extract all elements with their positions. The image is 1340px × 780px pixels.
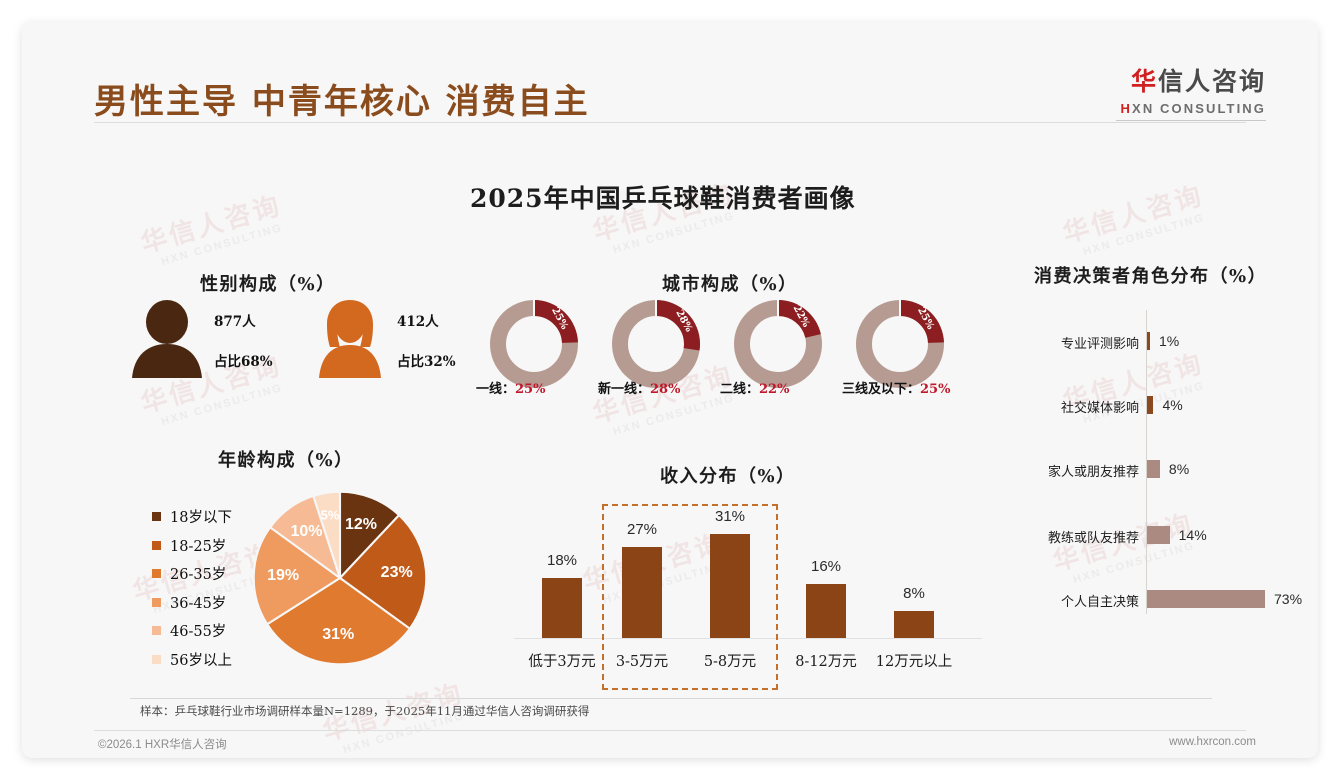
role-bar-value-1: 1% <box>1159 333 1179 349</box>
city-donut-label-1: 一线：25% <box>476 378 545 397</box>
legend-swatch-icon <box>152 598 161 607</box>
role-label-2: 社交媒体影响 <box>1007 397 1139 416</box>
city-donut-1: 25% <box>488 298 580 390</box>
age-pie-value-1: 12% <box>345 516 377 534</box>
city-label-value: 25% <box>920 382 950 397</box>
age-legend-item-4: 36-45岁 <box>152 592 226 613</box>
city-section-title: 城市构成（%） <box>662 270 798 296</box>
city-donut-label-4: 三线及以下：25% <box>842 378 950 397</box>
legend-swatch-icon <box>152 541 161 550</box>
age-section-title: 年龄构成（%） <box>218 446 354 472</box>
age-legend-item-3: 26-35岁 <box>152 563 226 584</box>
income-bar-5 <box>894 611 934 638</box>
website-text: www.hxrcon.com <box>1169 736 1256 748</box>
age-legend-label: 36-45岁 <box>170 592 226 613</box>
male-count: 877人 <box>214 310 256 330</box>
income-bar-value-3: 31% <box>690 508 770 525</box>
age-legend-item-2: 18-25岁 <box>152 535 226 556</box>
female-silhouette-icon <box>310 300 390 378</box>
legend-swatch-icon <box>152 569 161 578</box>
male-share: 占比68% <box>214 350 273 370</box>
city-label-text: 一线： <box>476 382 515 397</box>
role-bar-5 <box>1147 590 1265 608</box>
role-label-3: 家人或朋友推荐 <box>1007 461 1139 480</box>
city-donut-label-2: 新一线：28% <box>598 378 680 397</box>
brand-logo-en-red: H <box>1121 101 1133 116</box>
city-donut-3: 22% <box>732 298 824 390</box>
age-legend-label: 56岁以上 <box>170 649 232 670</box>
note-divider <box>130 698 1212 699</box>
income-bar-2 <box>622 547 662 638</box>
role-bar-1 <box>1147 332 1150 350</box>
role-label-4: 教练或队友推荐 <box>1007 527 1139 546</box>
gender-section-title: 性别构成（%） <box>200 270 336 296</box>
brand-logo-cn-rest: 信人咨询 <box>1158 67 1266 96</box>
brand-logo-en: HXN CONSULTING <box>1121 101 1266 116</box>
income-bar-value-4: 16% <box>786 558 866 575</box>
income-bar-value-1: 18% <box>522 552 602 569</box>
role-bar-value-5: 73% <box>1274 591 1302 607</box>
age-legend-item-6: 56岁以上 <box>152 649 232 670</box>
city-donut-4: 25% <box>854 298 946 390</box>
copyright-text: ©2026.1 HXR华信人咨询 <box>98 736 227 752</box>
header-divider <box>94 122 1246 123</box>
role-bar-value-3: 8% <box>1169 461 1189 477</box>
age-legend-label: 18-25岁 <box>170 535 226 556</box>
legend-swatch-icon <box>152 626 161 635</box>
income-bar-category-3: 5-8万元 <box>676 650 784 671</box>
role-label-1: 专业评测影响 <box>1007 333 1139 352</box>
brand-logo-cn-red: 华 <box>1131 67 1158 96</box>
footer-divider <box>94 730 1246 731</box>
city-label-text: 新一线： <box>598 382 650 397</box>
city-label-value: 28% <box>650 382 680 397</box>
income-bar-value-5: 8% <box>874 585 954 602</box>
role-label-5: 个人自主决策 <box>1007 591 1139 610</box>
age-pie-value-5: 10% <box>291 523 323 541</box>
city-label-text: 二线： <box>720 382 759 397</box>
age-legend-item-1: 18岁以下 <box>152 506 232 527</box>
city-label-value: 22% <box>759 382 789 397</box>
city-label-text: 三线及以下： <box>842 382 920 397</box>
income-bar-4 <box>806 584 846 638</box>
age-legend-item-5: 46-55岁 <box>152 620 226 641</box>
city-donut-2: 28% <box>610 298 702 390</box>
legend-swatch-icon <box>152 655 161 664</box>
slide-card: 华信人咨询 HXN CONSULTING 华信人咨询 HXN CONSULTIN… <box>22 22 1318 758</box>
income-bar-1 <box>542 578 582 638</box>
income-bar-category-5: 12万元以上 <box>860 650 968 671</box>
age-pie-value-6: 5% <box>321 507 340 522</box>
age-pie-value-2: 23% <box>381 564 413 582</box>
role-bar-value-4: 14% <box>1179 527 1207 543</box>
legend-swatch-icon <box>152 512 161 521</box>
role-bar-3 <box>1147 460 1160 478</box>
city-donut-label-3: 二线：22% <box>720 378 789 397</box>
infographic-title: 2025年中国乒乓球鞋消费者画像 <box>470 179 856 215</box>
income-section-title: 收入分布（%） <box>660 462 796 488</box>
income-bar-3 <box>710 534 750 638</box>
age-legend-label: 18岁以下 <box>170 506 232 527</box>
role-bar-4 <box>1147 526 1170 544</box>
age-legend-label: 26-35岁 <box>170 563 226 584</box>
role-bar-value-2: 4% <box>1162 397 1182 413</box>
sample-note: 样本：乒乓球鞋行业市场调研样本量N=1289，于2025年11月通过华信人咨询调… <box>140 703 589 719</box>
page-title: 男性主导 中青年核心 消费自主 <box>94 74 590 123</box>
age-pie-value-3: 31% <box>322 626 354 644</box>
female-count: 412人 <box>397 310 439 330</box>
female-share: 占比32% <box>397 350 456 370</box>
brand-logo: 华信人咨询 HXN CONSULTING <box>1121 62 1266 116</box>
male-silhouette-icon <box>127 300 207 378</box>
age-pie-value-4: 19% <box>267 567 299 585</box>
income-bar-value-2: 27% <box>602 521 682 538</box>
city-label-value: 25% <box>515 382 545 397</box>
brand-logo-en-rest: XN CONSULTING <box>1132 101 1266 116</box>
role-section-title: 消费决策者角色分布（%） <box>1034 262 1267 288</box>
logo-underline <box>1116 120 1266 121</box>
role-bar-2 <box>1147 396 1153 414</box>
brand-logo-cn: 华信人咨询 <box>1121 62 1266 98</box>
age-legend-label: 46-55岁 <box>170 620 226 641</box>
